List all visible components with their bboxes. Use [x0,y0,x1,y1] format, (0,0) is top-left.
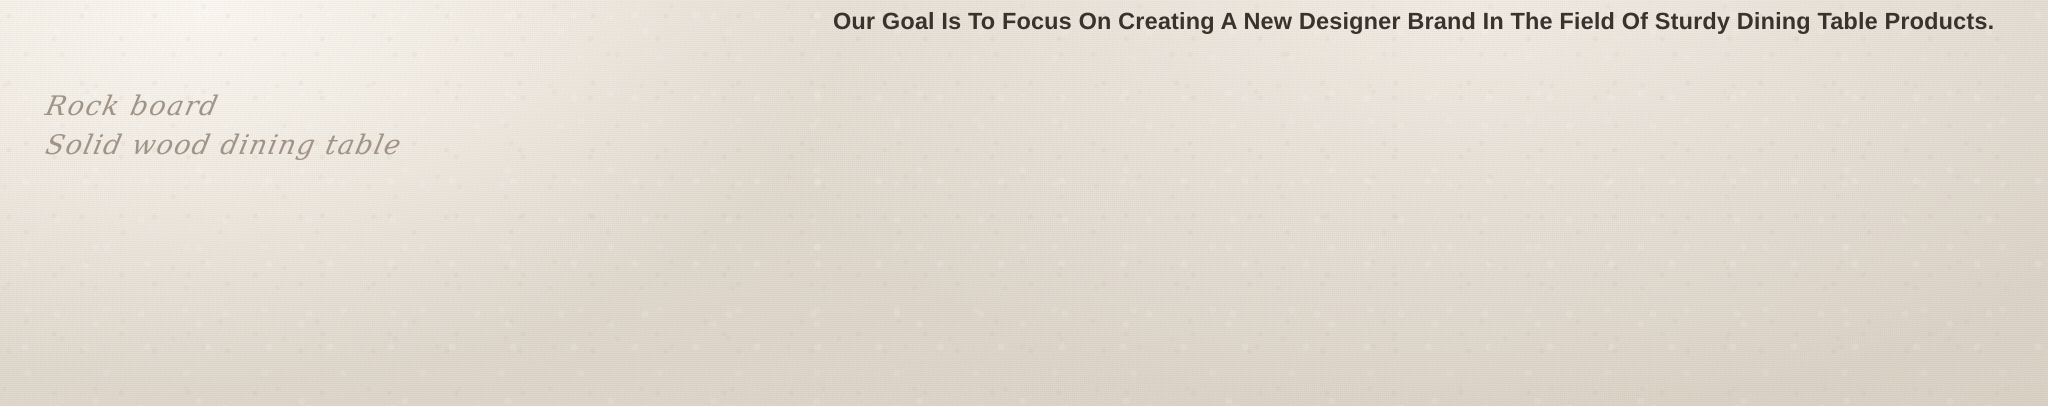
paper-grain-mottle-texture [0,0,2048,406]
promo-banner: Our Goal Is To Focus On Creating A New D… [0,0,2048,406]
script-line-solid-wood-dining-table: Solid wood dining table [42,127,670,165]
script-line-rock-board: Rock board [42,88,670,126]
paper-grain-fine-texture [0,0,2048,406]
paper-grain-fiber-texture [0,0,2048,406]
banner-vignette [0,0,2048,406]
product-script-caption: Rock board Solid wood dining table [46,88,666,165]
headline-statement: Our Goal Is To Focus On Creating A New D… [833,6,1994,36]
